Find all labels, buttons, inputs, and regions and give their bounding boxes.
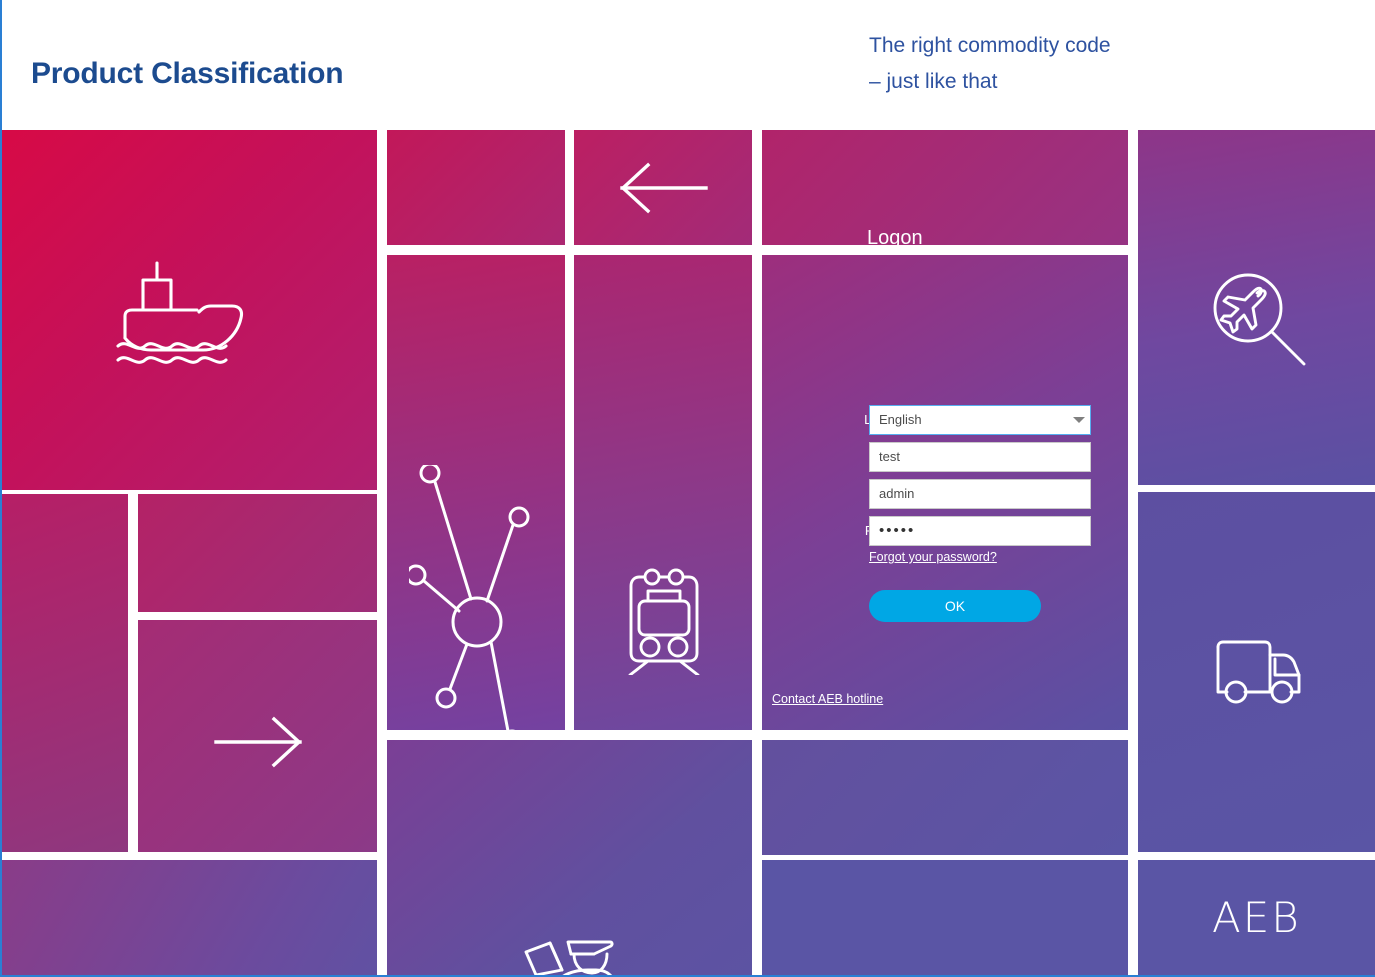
ok-button[interactable]: OK [869,590,1041,622]
chevron-down-icon[interactable] [1073,417,1085,423]
tile-plane-search [1138,130,1375,485]
tile-col3-bottom [762,860,1128,975]
plane-search-icon [1210,270,1310,370]
forgot-password-link[interactable]: Forgot your password? [869,550,997,564]
password-input[interactable]: ••••• [869,516,1091,546]
user-input[interactable]: admin [869,479,1091,509]
tile-arrow-left [574,130,752,245]
tile-train [574,255,752,730]
truck-icon [1213,637,1303,707]
tile-left-mid [138,494,377,612]
arrow-right-icon [214,716,304,768]
page-header: Product Classification The right commodi… [2,0,1375,128]
client-input[interactable]: test [869,442,1091,472]
logon-heading: Logon [867,227,923,250]
tile-left-tall [2,494,128,852]
tagline: The right commodity code – just like tha… [869,28,1111,100]
language-select[interactable]: English [869,405,1091,435]
tile-ship [2,130,377,490]
tile-arrow-right [138,620,377,852]
tile-col2-top [387,130,565,245]
tile-truck [1138,492,1375,852]
page-title: Product Classification [31,57,343,91]
ship-icon [115,260,265,380]
tile-col3-mid [762,740,1128,855]
tile-mosaic [2,128,1375,977]
tagline-line-2: – just like that [869,64,1111,100]
logon-panel: Logon Language English Client test User … [762,127,1128,602]
form-row-language: Language English [762,405,1128,435]
form-row-client: Client test [762,442,1128,472]
aeb-logo: AEB [1212,893,1301,942]
form-row-password: Password ••••• [762,516,1128,546]
tile-network [387,255,565,730]
train-icon [624,565,704,675]
tile-left-bottom [2,860,377,977]
arrow-left-icon [618,162,708,214]
network-icon [409,465,544,730]
application-root: Product Classification The right commodi… [0,0,1375,977]
contact-hotline-link[interactable]: Contact AEB hotline [772,692,883,706]
tagline-line-1: The right commodity code [869,34,1111,57]
tile-officer-overlay [387,740,752,977]
officer-icon-main [522,930,622,977]
form-row-user: User admin [762,479,1128,509]
